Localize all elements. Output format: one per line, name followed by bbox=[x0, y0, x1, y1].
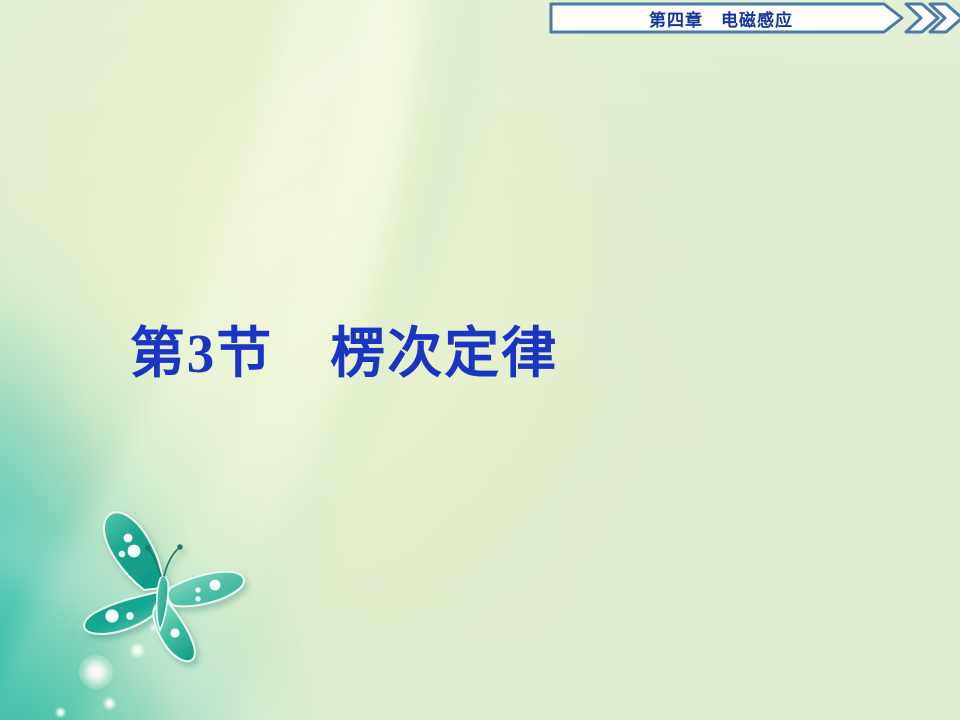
glow-bubble bbox=[79, 655, 113, 689]
slide-header: 第四章 电磁感应 bbox=[0, 0, 960, 40]
glow-bubble bbox=[103, 697, 116, 710]
chapter-label: 第四章 电磁感应 bbox=[551, 4, 891, 32]
slide-title: 第3节 楞次定律 bbox=[0, 322, 960, 385]
glow-bubble bbox=[130, 643, 145, 658]
butterfly-decoration bbox=[72, 506, 252, 670]
glow-bubble bbox=[55, 707, 66, 718]
presentation-slide: 第四章 电磁感应 第3节 楞次定律 bbox=[0, 0, 960, 720]
glow-bubble bbox=[149, 622, 159, 632]
